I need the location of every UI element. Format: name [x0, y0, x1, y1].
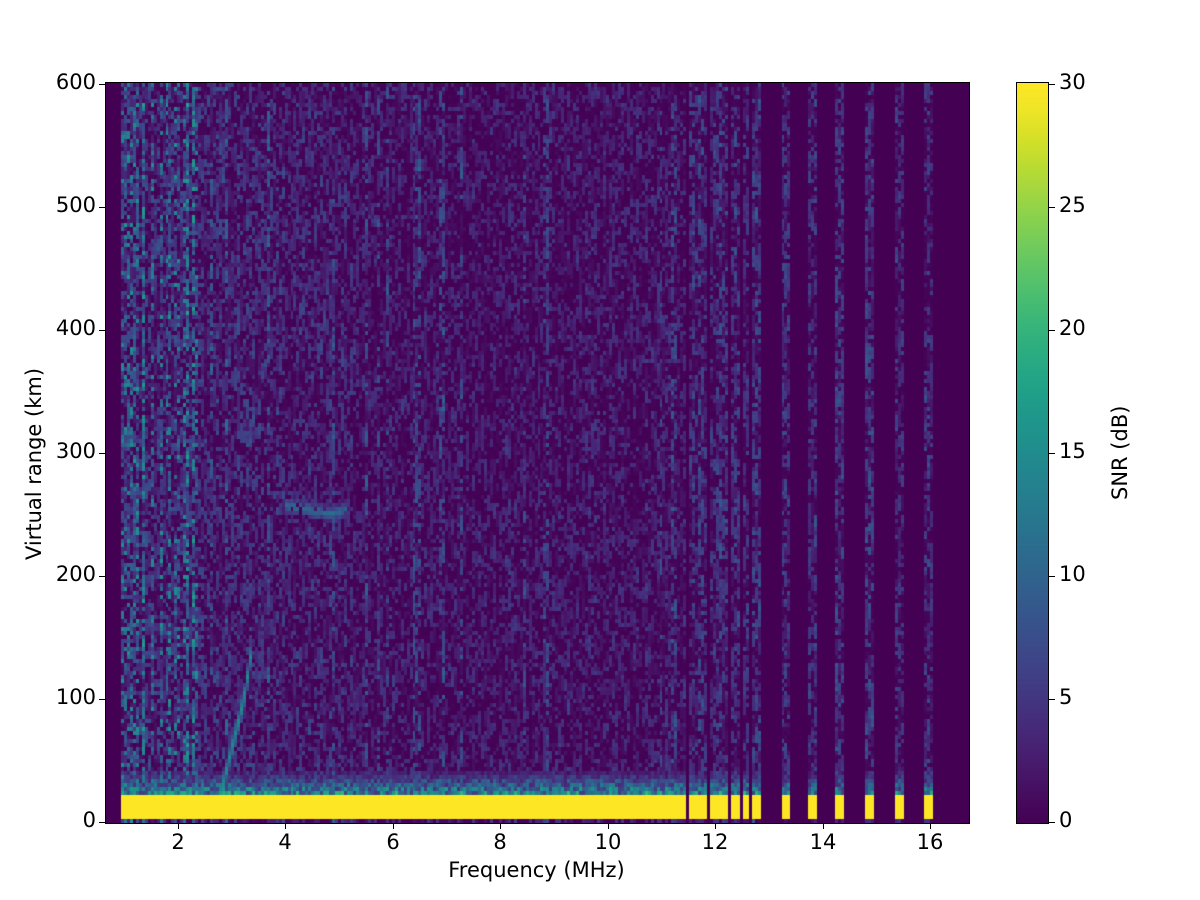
y-axis-tick-mark	[99, 207, 105, 208]
x-axis-tick-label: 12	[702, 830, 729, 854]
colorbar-label: SNR (dB)	[1108, 406, 1132, 500]
y-axis-tick-mark	[99, 453, 105, 454]
x-axis-tick-label: 10	[595, 830, 622, 854]
colorbar-tick-label: 5	[1059, 685, 1072, 709]
y-axis-tick-mark	[99, 699, 105, 700]
x-axis-tick-label: 6	[386, 830, 399, 854]
x-axis-tick-mark	[608, 823, 609, 829]
x-axis-label: Frequency (MHz)	[105, 858, 968, 882]
ionogram-figure: IRF Uppsala SDR Ionosonde UP158 2026-03-…	[0, 0, 1200, 900]
y-axis-tick-label: 400	[56, 316, 96, 340]
y-axis-tick-label: 100	[56, 685, 96, 709]
colorbar-tick-label: 20	[1059, 316, 1086, 340]
y-axis-tick-mark	[99, 330, 105, 331]
y-axis-tick-label: 300	[56, 439, 96, 463]
x-axis-tick-label: 8	[493, 830, 506, 854]
colorbar-tick-mark	[1049, 453, 1055, 454]
colorbar-tick-label: 25	[1059, 193, 1086, 217]
colorbar-tick-mark	[1049, 576, 1055, 577]
colorbar-gradient	[1017, 83, 1048, 823]
colorbar-tick-mark	[1049, 330, 1055, 331]
x-axis-tick-label: 14	[810, 830, 837, 854]
x-axis-tick-mark	[715, 823, 716, 829]
x-axis-tick-mark	[930, 823, 931, 829]
colorbar-tick-label: 10	[1059, 562, 1086, 586]
y-axis-label: Virtual range (km)	[22, 368, 46, 560]
x-axis-tick-mark	[393, 823, 394, 829]
x-axis-tick-label: 16	[917, 830, 944, 854]
x-axis-tick-label: 4	[278, 830, 291, 854]
x-axis-tick-mark	[285, 823, 286, 829]
x-axis-tick-mark	[178, 823, 179, 829]
ionogram-heatmap	[106, 83, 969, 823]
y-axis-tick-mark	[99, 84, 105, 85]
colorbar-tick-label: 15	[1059, 439, 1086, 463]
colorbar-tick-mark	[1049, 822, 1055, 823]
colorbar-tick-mark	[1049, 699, 1055, 700]
colorbar-tick-mark	[1049, 84, 1055, 85]
colorbar[interactable]	[1016, 82, 1049, 824]
y-axis-tick-mark	[99, 576, 105, 577]
x-axis-tick-label: 2	[171, 830, 184, 854]
y-axis-tick-mark	[99, 822, 105, 823]
x-axis-tick-mark	[823, 823, 824, 829]
ionogram-plot-area[interactable]	[105, 82, 970, 824]
colorbar-tick-mark	[1049, 207, 1055, 208]
y-axis-tick-label: 200	[56, 562, 96, 586]
y-axis-tick-label: 0	[83, 808, 96, 832]
x-axis-tick-mark	[500, 823, 501, 829]
colorbar-tick-label: 0	[1059, 808, 1072, 832]
colorbar-tick-label: 30	[1059, 70, 1086, 94]
y-axis-tick-label: 500	[56, 193, 96, 217]
y-axis-tick-label: 600	[56, 70, 96, 94]
